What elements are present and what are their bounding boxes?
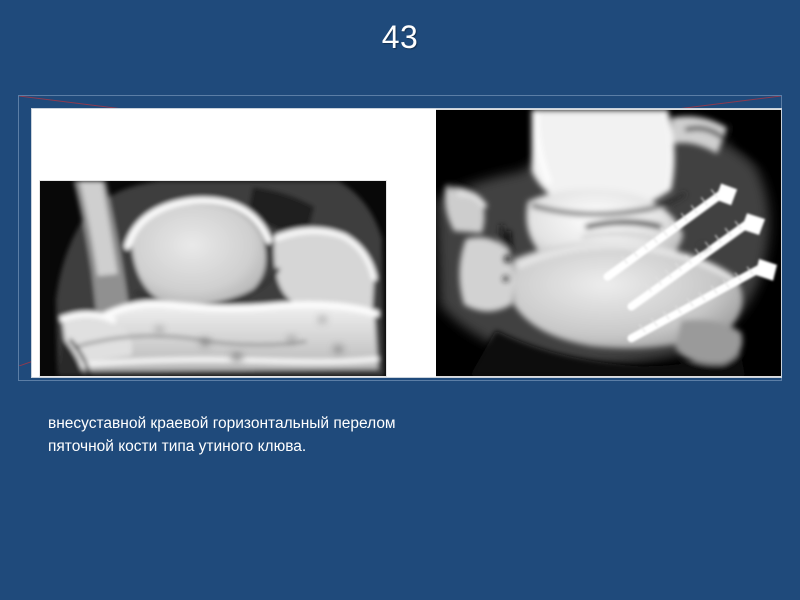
- caption-line-2: пяточной кости типа утиного клюва.: [48, 435, 608, 458]
- image-content-panel: [31, 108, 782, 378]
- sagittal-ct-image: [39, 180, 387, 377]
- slide-caption: внесуставной краевой горизонтальный пере…: [48, 412, 608, 458]
- lateral-xray-image: [436, 109, 782, 377]
- caption-line-1: внесуставной краевой горизонтальный пере…: [48, 412, 608, 435]
- presentation-slide: 43: [0, 0, 800, 600]
- page-title: 43: [0, 18, 800, 56]
